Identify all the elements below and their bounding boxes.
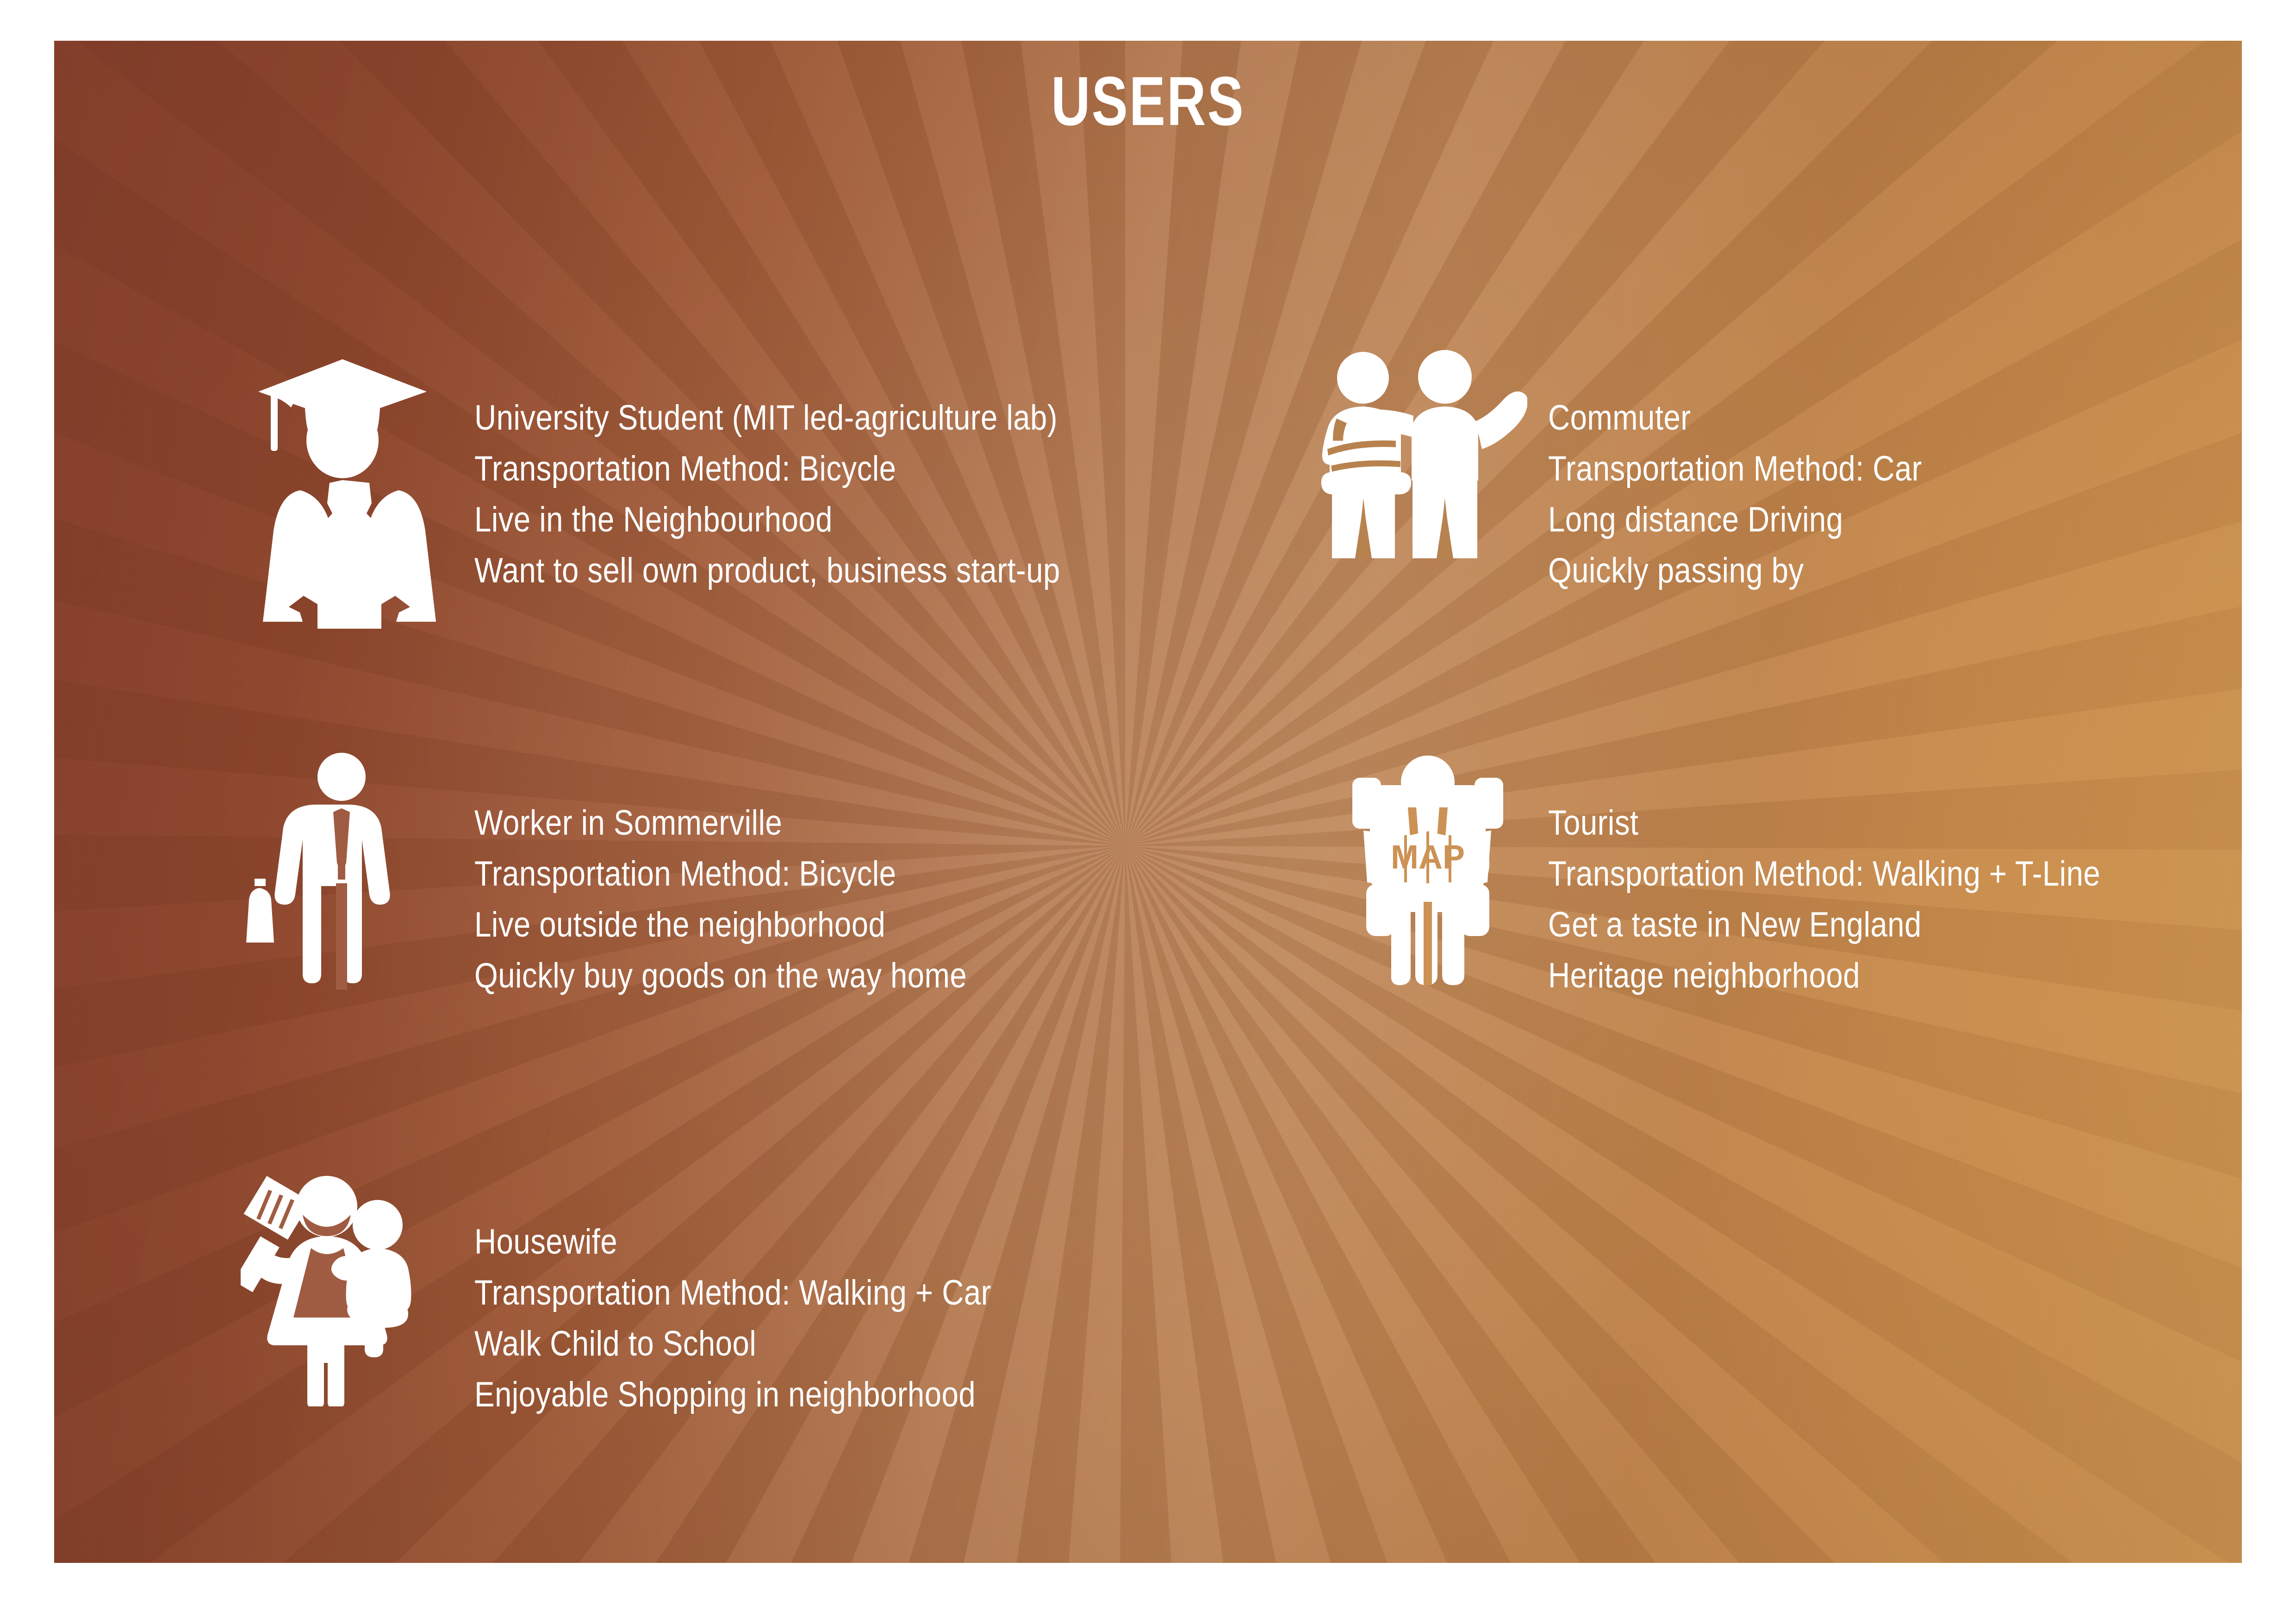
persona-line: Long distance Driving xyxy=(1548,494,1922,545)
persona-line: Walk Child to School xyxy=(474,1318,991,1369)
persona-line: Quickly passing by xyxy=(1548,545,1922,596)
persona-line: Transportation Method: Bicycle xyxy=(474,443,1060,494)
persona-description: University Student (MIT led-agriculture … xyxy=(474,393,1060,596)
persona-line: Transportation Method: Walking + T-Line xyxy=(1548,849,2100,899)
persona-description: Tourist Transportation Method: Walking +… xyxy=(1548,798,2100,1001)
persona-line: Worker in Sommerville xyxy=(474,798,967,849)
persona-description: Commuter Transportation Method: Car Long… xyxy=(1548,393,1922,596)
poster-artboard: USERS xyxy=(54,41,2242,1563)
page-title: USERS xyxy=(295,66,2001,136)
persona-line: Transportation Method: Car xyxy=(1548,443,1922,494)
persona-line: Tourist xyxy=(1548,798,2100,849)
businessman-with-briefcase-icon xyxy=(245,749,440,994)
persona-line: Housewife xyxy=(474,1217,991,1268)
persona-line: Want to sell own product, business start… xyxy=(474,545,1060,596)
two-people-commuter-icon xyxy=(1314,342,1527,559)
map-label: MAP xyxy=(1391,839,1465,876)
persona-line: Live in the Neighbourhood xyxy=(474,494,1060,545)
persona-description: Worker in Sommerville Transportation Met… xyxy=(474,798,967,1001)
persona-description: Housewife Transportation Method: Walking… xyxy=(474,1217,991,1420)
persona-line: Heritage neighborhood xyxy=(1548,950,2100,1001)
graduate-student-icon xyxy=(245,342,440,629)
persona-line: Enjoyable Shopping in neighborhood xyxy=(474,1369,991,1420)
backpacker-with-map-icon: MAP xyxy=(1342,749,1513,985)
persona-line: Commuter xyxy=(1548,393,1922,443)
housewife-with-child-icon xyxy=(241,1166,444,1406)
poster-content: USERS xyxy=(54,41,2242,1563)
persona-line: Quickly buy goods on the way home xyxy=(474,950,967,1001)
persona-line: University Student (MIT led-agriculture … xyxy=(474,393,1060,443)
persona-line: Get a taste in New England xyxy=(1548,899,2100,950)
persona-line: Live outside the neighborhood xyxy=(474,899,967,950)
persona-line: Transportation Method: Walking + Car xyxy=(474,1268,991,1318)
persona-line: Transportation Method: Bicycle xyxy=(474,849,967,899)
